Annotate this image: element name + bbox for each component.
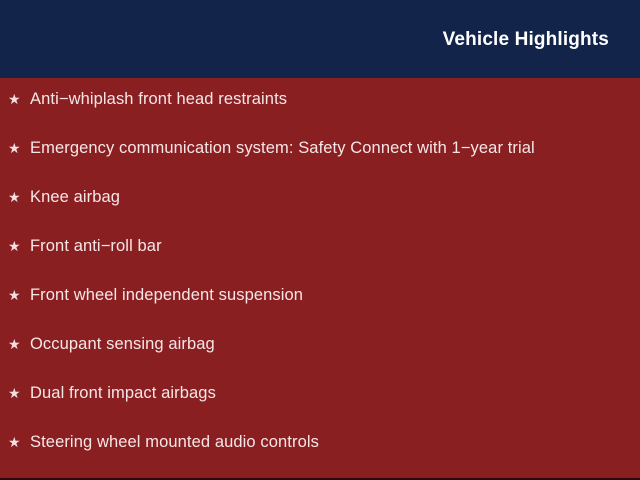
star-bullet-icon: ★	[8, 190, 30, 204]
star-bullet-icon: ★	[8, 435, 30, 449]
list-item-label: Front wheel independent suspension	[30, 287, 303, 304]
vehicle-highlights-slide: Vehicle Highlights ★ Anti−whiplash front…	[0, 0, 640, 480]
star-bullet-icon: ★	[8, 386, 30, 400]
list-item-label: Front anti−roll bar	[30, 238, 162, 255]
list-item: ★ Steering wheel mounted audio controls	[8, 434, 640, 480]
page-title: Vehicle Highlights	[443, 30, 609, 49]
list-item: ★ Emergency communication system: Safety…	[8, 140, 640, 189]
list-item-label: Emergency communication system: Safety C…	[30, 140, 535, 157]
list-item-label: Dual front impact airbags	[30, 385, 216, 402]
star-bullet-icon: ★	[8, 92, 30, 106]
list-item: ★ Anti−whiplash front head restraints	[8, 91, 640, 140]
slide-header: Vehicle Highlights	[0, 0, 640, 78]
list-item: ★ Knee airbag	[8, 189, 640, 238]
list-item-label: Steering wheel mounted audio controls	[30, 434, 319, 451]
star-bullet-icon: ★	[8, 337, 30, 351]
list-item: ★ Dual front impact airbags	[8, 385, 640, 434]
star-bullet-icon: ★	[8, 288, 30, 302]
list-item: ★ Front anti−roll bar	[8, 238, 640, 287]
star-bullet-icon: ★	[8, 141, 30, 155]
list-item: ★ Occupant sensing airbag	[8, 336, 640, 385]
list-item-label: Anti−whiplash front head restraints	[30, 91, 287, 108]
list-item-label: Knee airbag	[30, 189, 120, 206]
highlights-list: ★ Anti−whiplash front head restraints ★ …	[0, 78, 640, 480]
list-item-label: Occupant sensing airbag	[30, 336, 215, 353]
list-item: ★ Front wheel independent suspension	[8, 287, 640, 336]
star-bullet-icon: ★	[8, 239, 30, 253]
